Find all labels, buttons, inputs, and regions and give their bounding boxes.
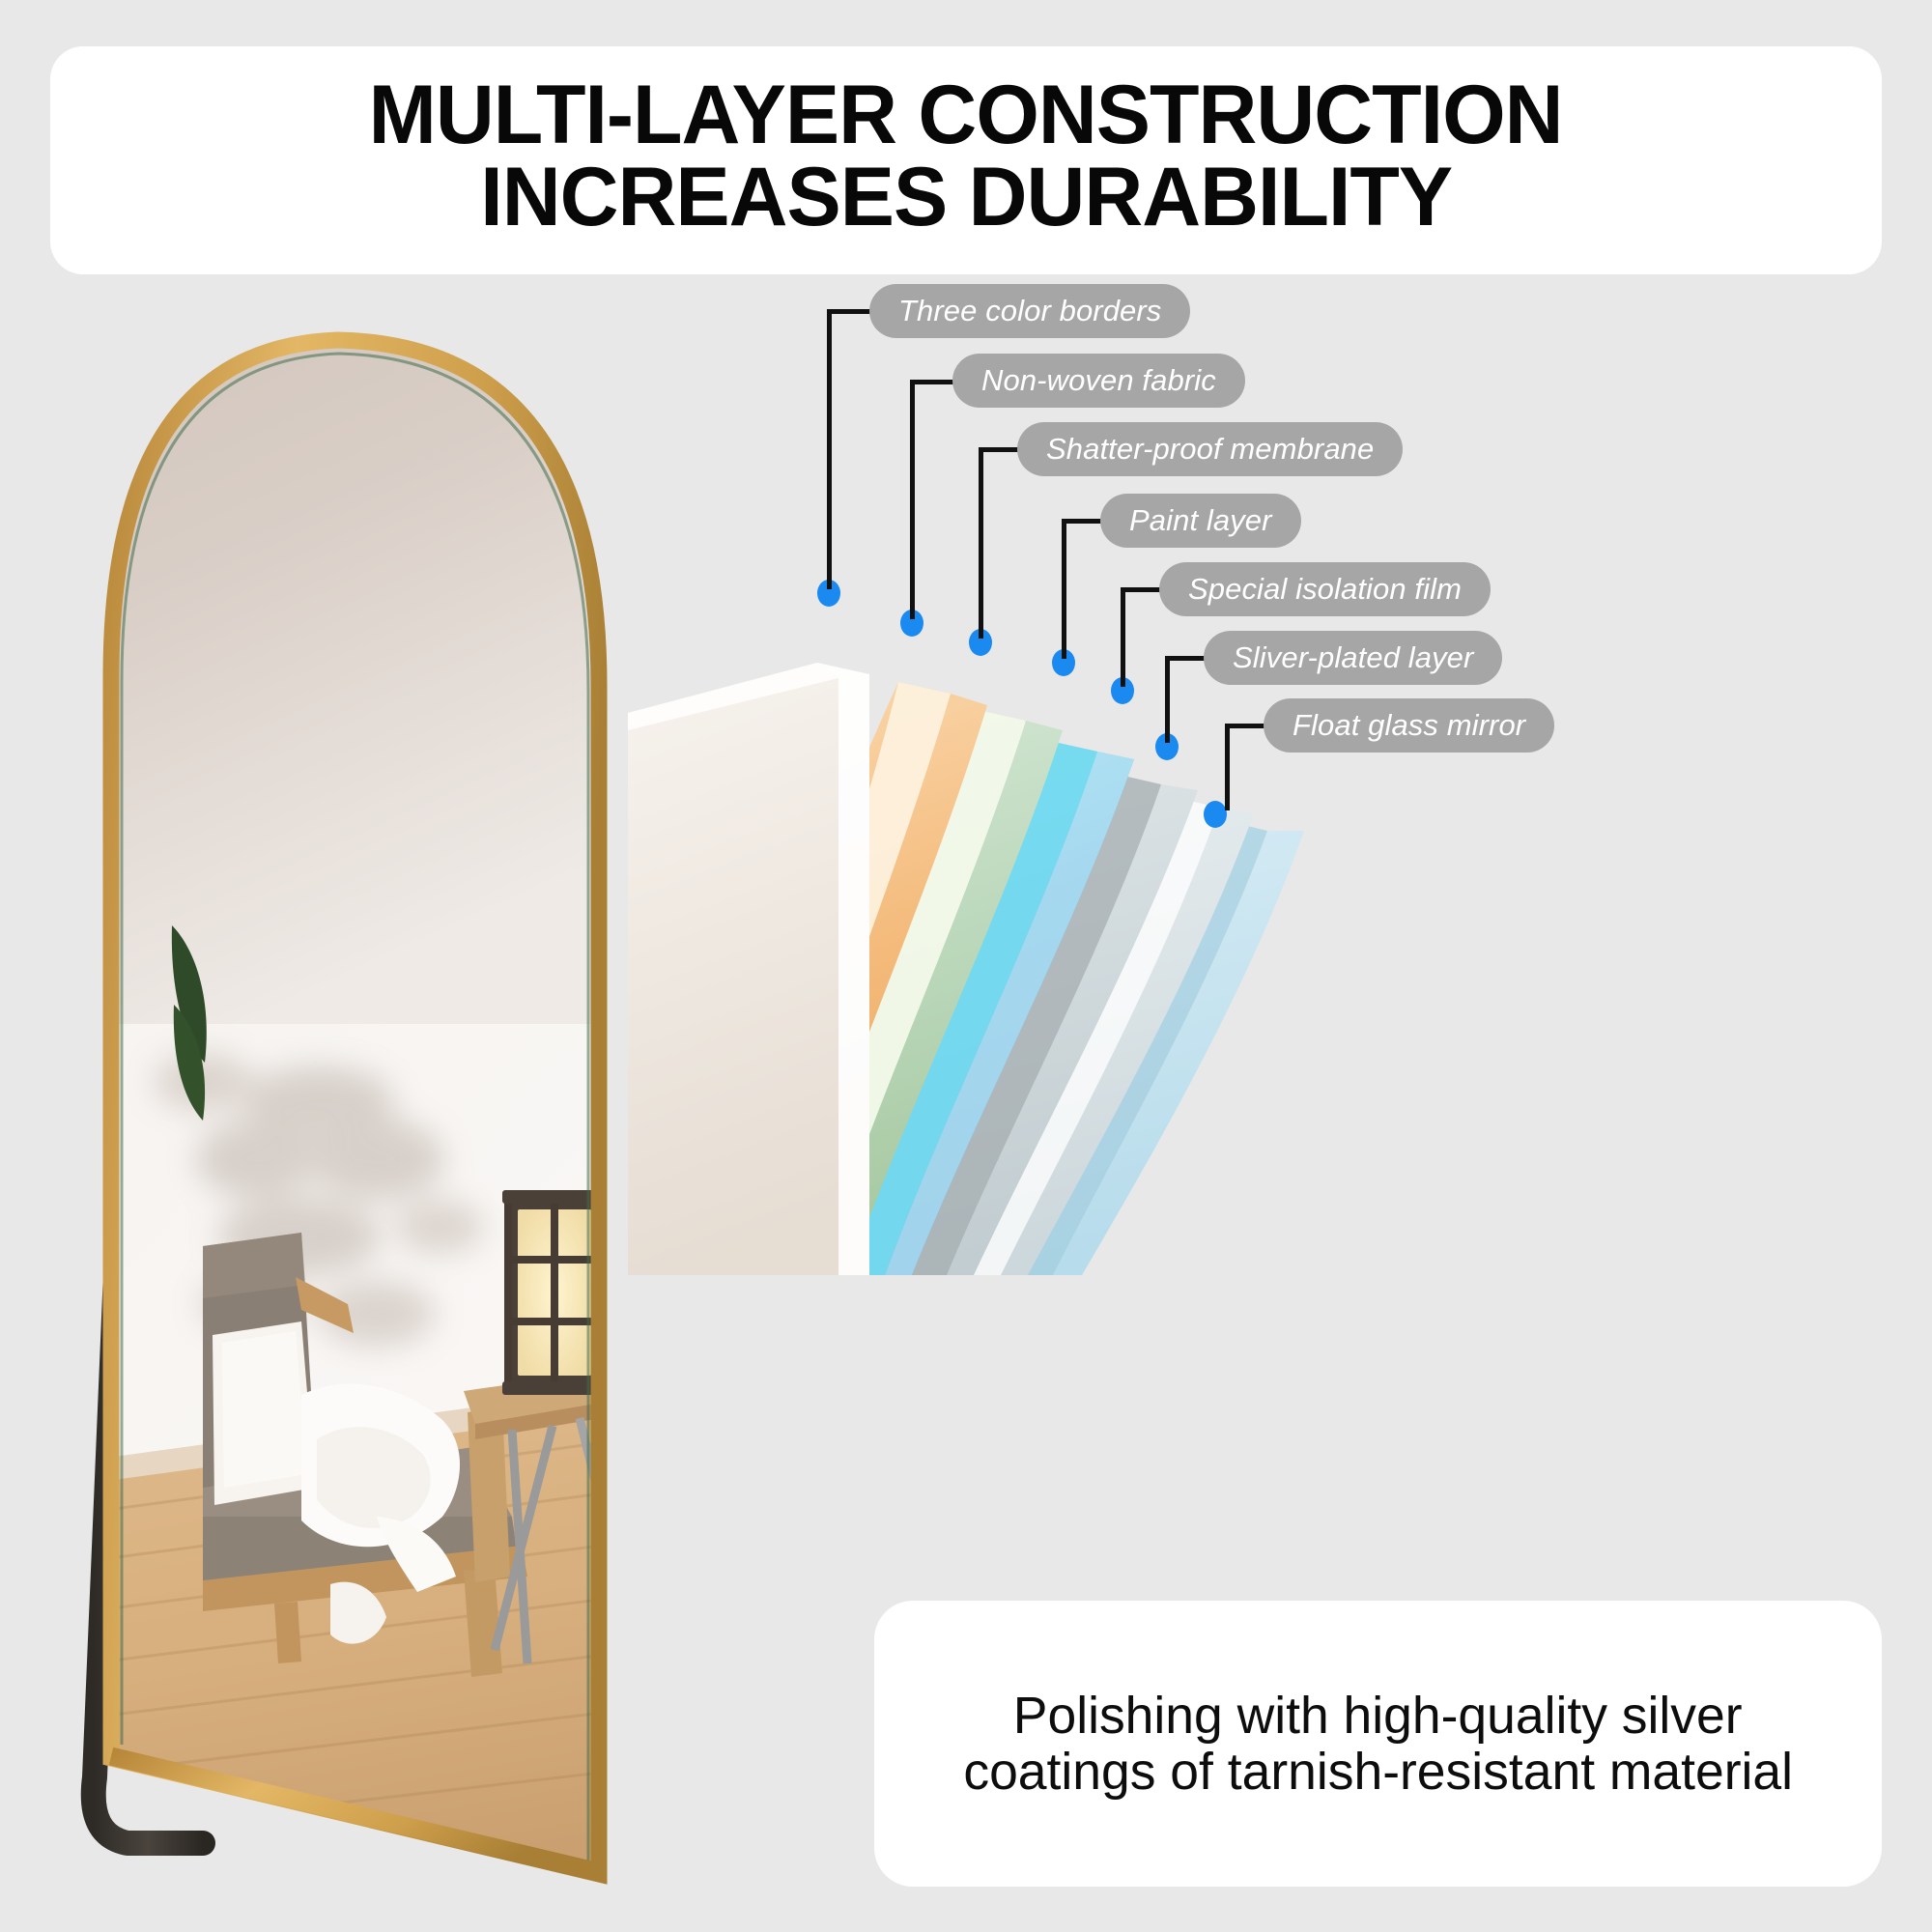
layer-marker-dot-7[interactable] bbox=[1204, 801, 1227, 828]
leader-line-horizontal-4 bbox=[1062, 519, 1104, 524]
callout-label-4: Paint layer bbox=[1129, 503, 1272, 538]
leader-line-vertical-1 bbox=[827, 309, 832, 589]
leader-line-vertical-5 bbox=[1121, 587, 1125, 687]
leader-line-horizontal-2 bbox=[910, 380, 958, 384]
leader-line-vertical-2 bbox=[910, 380, 915, 619]
callout-label-6: Sliver-plated layer bbox=[1233, 640, 1473, 675]
infographic-stage: Three color borders Non-woven fabric Sha… bbox=[0, 0, 1932, 1932]
callout-pill-paint-layer[interactable]: Paint layer bbox=[1100, 494, 1301, 548]
product-photo-mirror bbox=[58, 232, 676, 1913]
title-line-1: MULTI-LAYER CONSTRUCTION bbox=[369, 74, 1563, 156]
mirror-illustration bbox=[58, 232, 676, 1913]
leader-line-vertical-4 bbox=[1062, 519, 1066, 659]
callout-pill-sliver-plated-layer[interactable]: Sliver-plated layer bbox=[1204, 631, 1502, 685]
leader-line-vertical-3 bbox=[979, 447, 983, 639]
layer-sheet-three-color-borders bbox=[628, 663, 869, 1275]
title-card: MULTI-LAYER CONSTRUCTION INCREASES DURAB… bbox=[50, 46, 1882, 274]
callout-label-7: Float glass mirror bbox=[1293, 708, 1525, 743]
caption-card: Polishing with high-quality silver coati… bbox=[874, 1601, 1882, 1887]
callout-pill-non-woven-fabric[interactable]: Non-woven fabric bbox=[952, 354, 1245, 408]
callout-label-3: Shatter-proof membrane bbox=[1046, 432, 1374, 467]
callout-label-1: Three color borders bbox=[898, 294, 1161, 328]
title-line-2: INCREASES DURABILITY bbox=[480, 156, 1452, 239]
callout-pill-three-color-borders[interactable]: Three color borders bbox=[869, 284, 1190, 338]
caption-line-2: coatings of tarnish-resistant material bbox=[963, 1744, 1793, 1800]
callout-pill-shatter-proof-membrane[interactable]: Shatter-proof membrane bbox=[1017, 422, 1403, 476]
callout-pill-float-glass-mirror[interactable]: Float glass mirror bbox=[1264, 698, 1554, 753]
mirror-reflection bbox=[58, 232, 676, 1913]
caption-line-1: Polishing with high-quality silver bbox=[1013, 1688, 1743, 1744]
callout-label-2: Non-woven fabric bbox=[981, 363, 1216, 398]
leader-line-vertical-6 bbox=[1165, 656, 1170, 743]
leader-line-vertical-7 bbox=[1225, 724, 1230, 810]
callout-pill-special-isolation-film[interactable]: Special isolation film bbox=[1159, 562, 1491, 616]
callout-label-5: Special isolation film bbox=[1188, 572, 1462, 607]
